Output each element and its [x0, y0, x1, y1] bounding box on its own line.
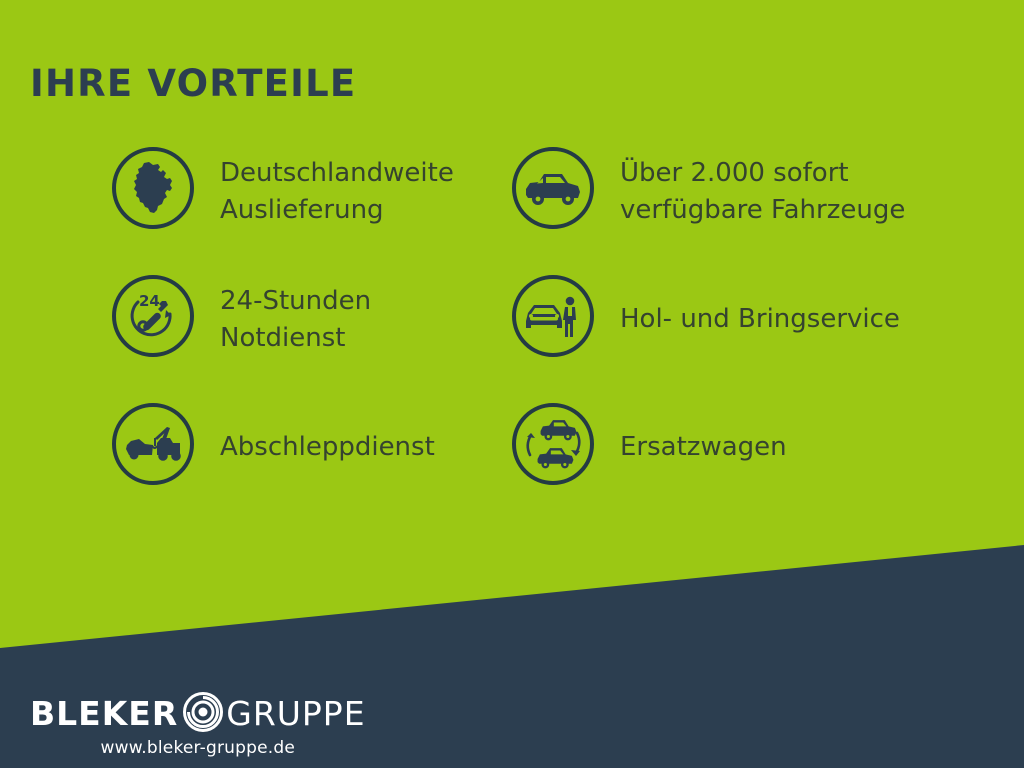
benefit-label: Über 2.000 sofort verfügbare Fahrzeuge — [620, 145, 952, 229]
germany-map-icon — [112, 147, 194, 229]
spiral-logo-icon — [182, 691, 224, 737]
benefit-label: Ersatzwagen — [620, 401, 952, 466]
two-cars-exchange-icon — [512, 403, 594, 485]
svg-text:24: 24 — [139, 292, 160, 310]
benefit-label: 24-Stunden Notdienst — [220, 273, 502, 357]
slide-canvas: IHRE VORTEILE Deutschlandweite Ausliefer… — [0, 0, 1024, 768]
page-title: IHRE VORTEILE — [30, 62, 356, 105]
benefit-label: Hol- und Bringservice — [620, 273, 952, 338]
benefits-column-left: Deutschlandweite Auslieferung 24 — [112, 145, 502, 529]
benefits-column-right: Über 2.000 sofort verfügbare Fahrzeuge — [512, 145, 952, 529]
benefit-item-verfuegbare-fahrzeuge: Über 2.000 sofort verfügbare Fahrzeuge — [512, 145, 952, 273]
benefit-item-ersatzwagen: Ersatzwagen — [512, 401, 952, 529]
logo-text-gruppe: GRUPPE — [226, 697, 365, 731]
benefit-label: Abschleppdienst — [220, 401, 502, 466]
clock-24-wrench-icon: 24 — [112, 275, 194, 357]
car-person-icon — [512, 275, 594, 357]
logo-row: BLEKER GRUPPE — [30, 694, 366, 734]
footer-logo-block: BLEKER GRUPPE www.bleker-gruppe.de — [30, 694, 366, 758]
benefit-item-abschleppdienst: Abschleppdienst — [112, 401, 502, 529]
benefit-item-hol-und-bringservice: Hol- und Bringservice — [512, 273, 952, 401]
benefit-item-24-stunden-notdienst: 24 24-Stunden Notdienst — [112, 273, 502, 401]
footer-website-url: www.bleker-gruppe.de — [30, 738, 366, 758]
benefit-label: Deutschlandweite Auslieferung — [220, 145, 502, 229]
tow-truck-icon — [112, 403, 194, 485]
benefit-item-deutschlandweite-auslieferung: Deutschlandweite Auslieferung — [112, 145, 502, 273]
logo-text-bleker: BLEKER — [30, 697, 178, 731]
car-icon — [512, 147, 594, 229]
